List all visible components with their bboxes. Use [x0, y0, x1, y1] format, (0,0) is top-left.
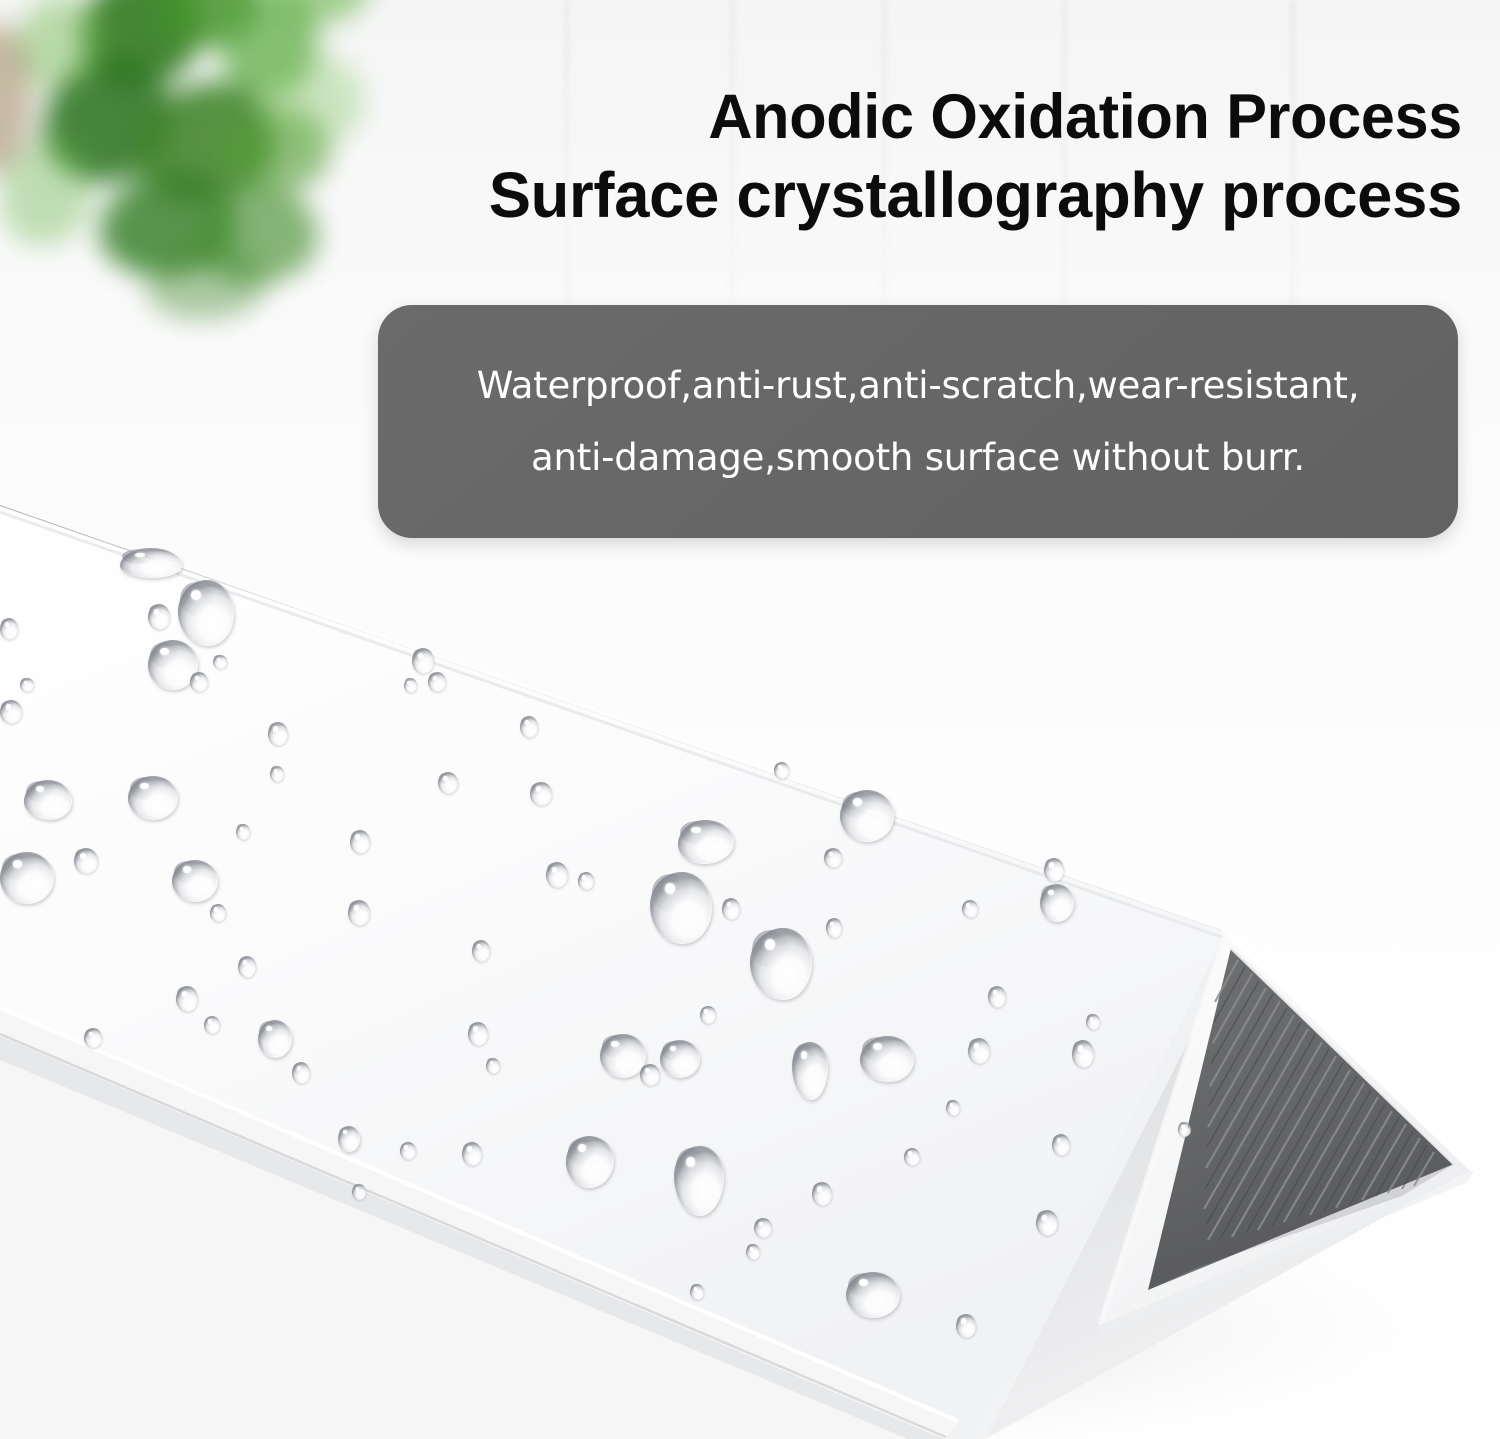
feature-callout-line-2: anti-damage,smooth surface without burr.: [531, 422, 1305, 494]
product-marketing-image: Anodic Oxidation Process Surface crystal…: [0, 0, 1500, 1439]
feature-callout-line-1: Waterproof,anti-rust,anti-scratch,wear-r…: [477, 350, 1360, 422]
headline-block: Anodic Oxidation Process Surface crystal…: [0, 78, 1462, 234]
headline-line-1: Anodic Oxidation Process: [44, 78, 1462, 156]
feature-callout-box: Waterproof,anti-rust,anti-scratch,wear-r…: [378, 305, 1458, 538]
headline-line-2: Surface crystallography process: [15, 156, 1462, 234]
